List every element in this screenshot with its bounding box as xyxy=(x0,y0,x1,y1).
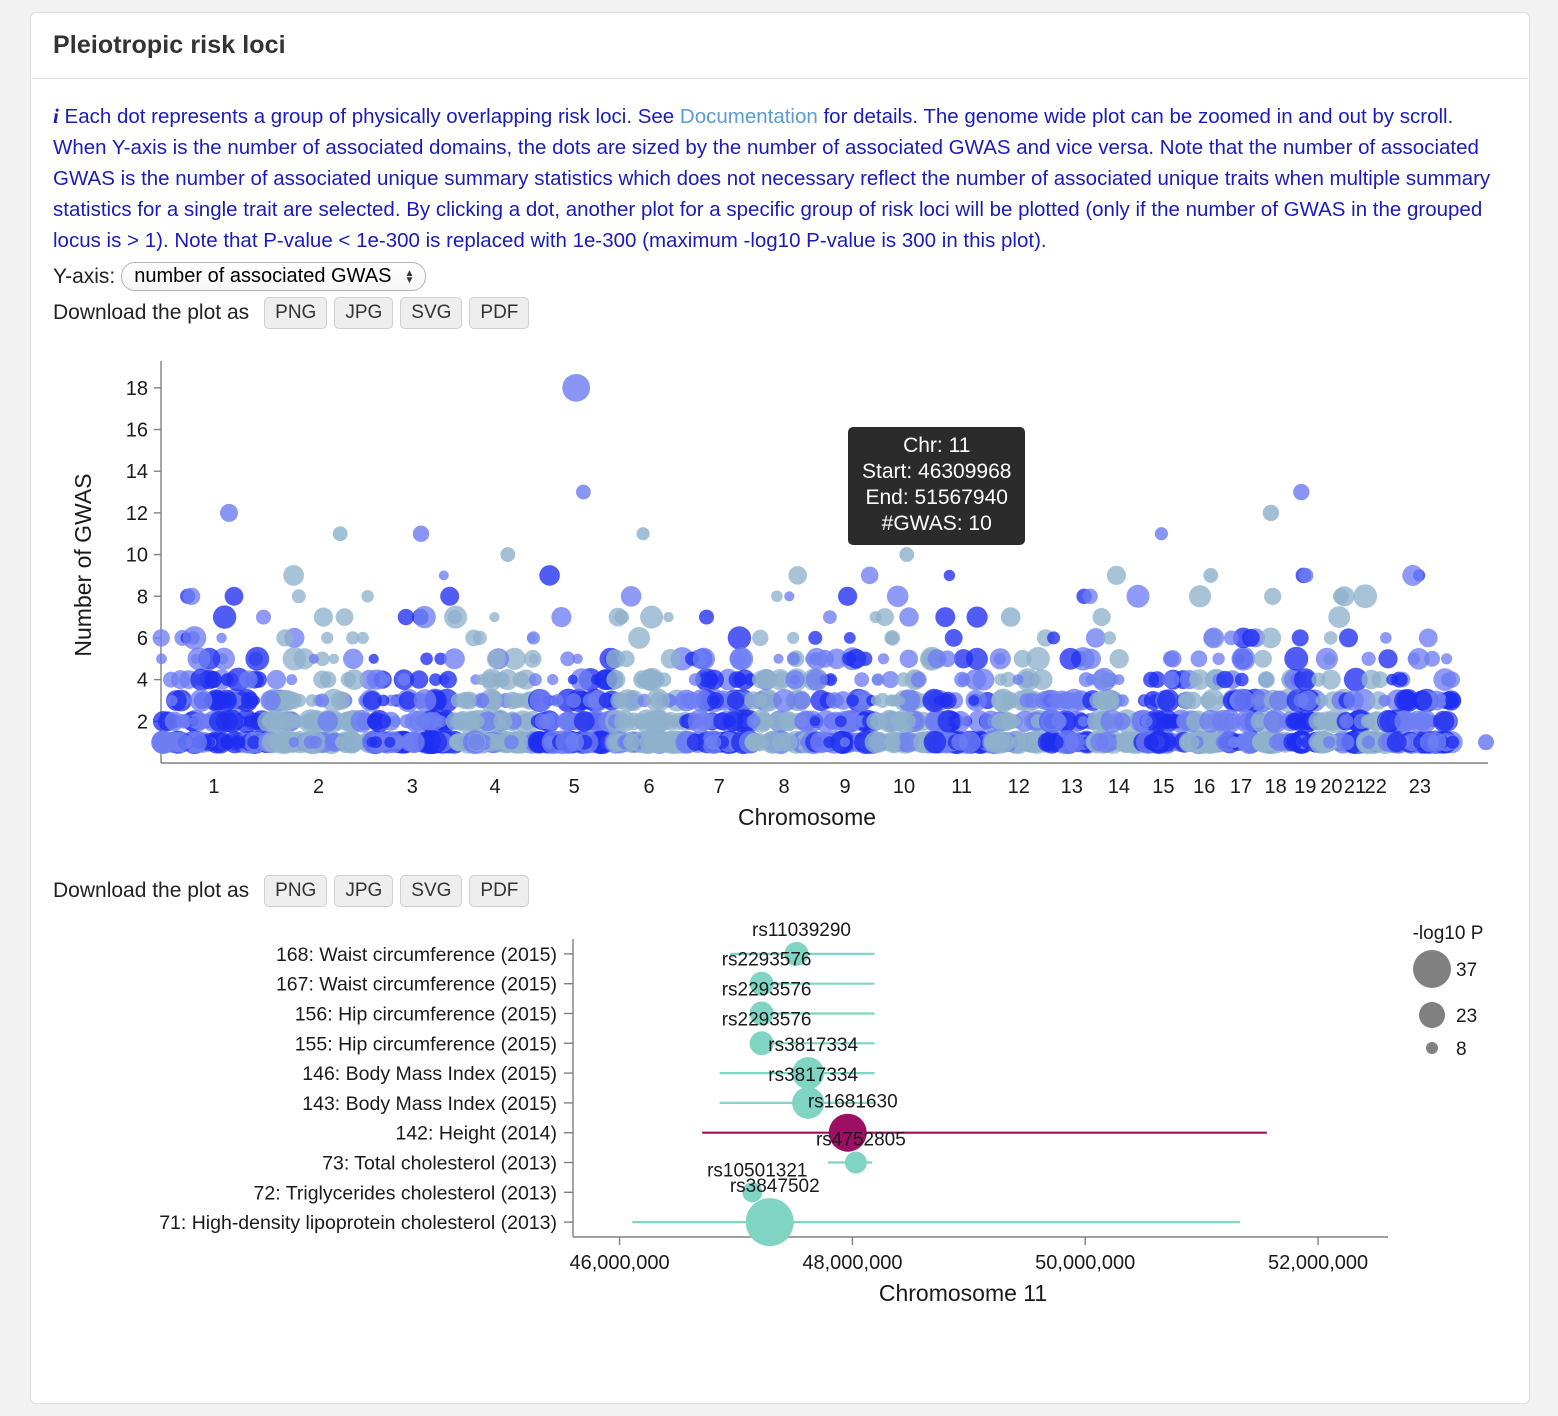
yaxis-select-value: number of associated GWAS xyxy=(134,265,391,288)
svg-text:23: 23 xyxy=(1409,776,1431,798)
svg-text:19: 19 xyxy=(1294,776,1316,798)
yaxis-select[interactable]: number of associated GWAS ▲▼ xyxy=(121,262,426,291)
svg-text:6: 6 xyxy=(137,628,148,650)
description-text: i Each dot represents a group of physica… xyxy=(53,101,1507,256)
svg-text:14: 14 xyxy=(126,461,148,483)
pleiotropic-risk-loci-card: Pleiotropic risk loci i Each dot represe… xyxy=(30,12,1530,1404)
download-svg-button-bottom[interactable]: SVG xyxy=(400,875,462,907)
download-pdf-button-top[interactable]: PDF xyxy=(469,297,529,329)
svg-text:rs2293576: rs2293576 xyxy=(722,950,812,971)
svg-text:15: 15 xyxy=(1152,776,1174,798)
svg-text:10: 10 xyxy=(126,545,148,567)
download-png-button-bottom[interactable]: PNG xyxy=(264,875,327,907)
download-png-button-top[interactable]: PNG xyxy=(264,297,327,329)
svg-text:5: 5 xyxy=(569,776,580,798)
chevron-updown-icon: ▲▼ xyxy=(405,270,415,284)
download-pdf-button-bottom[interactable]: PDF xyxy=(469,875,529,907)
yaxis-control-row: Y-axis: number of associated GWAS ▲▼ xyxy=(53,262,1507,291)
svg-text:167: Waist circumference (2015: 167: Waist circumference (2015) xyxy=(276,974,557,996)
svg-text:Chromosome: Chromosome xyxy=(738,804,876,830)
svg-text:143: Body Mass Index (2015): 143: Body Mass Index (2015) xyxy=(302,1093,557,1115)
yaxis-label: Y-axis: xyxy=(53,265,115,289)
svg-text:12: 12 xyxy=(1008,776,1030,798)
svg-text:12: 12 xyxy=(126,503,148,525)
download-svg-button-top[interactable]: SVG xyxy=(400,297,462,329)
svg-text:22: 22 xyxy=(1365,776,1387,798)
svg-text:146: Body Mass Index (2015): 146: Body Mass Index (2015) xyxy=(302,1063,557,1085)
svg-text:73: Total cholesterol (2013): 73: Total cholesterol (2013) xyxy=(322,1153,557,1175)
download-label-top: Download the plot as xyxy=(53,301,249,325)
svg-text:155: Hip circumference (2015): 155: Hip circumference (2015) xyxy=(295,1033,557,1055)
page-title: Pleiotropic risk loci xyxy=(53,31,286,60)
svg-text:rs2293576: rs2293576 xyxy=(722,980,812,1001)
svg-text:rs3817334: rs3817334 xyxy=(768,1035,858,1056)
svg-text:2: 2 xyxy=(313,776,324,798)
locus-lollipop-plot[interactable]: 46,000,00048,000,00050,000,00052,000,000… xyxy=(53,917,1507,1337)
svg-text:14: 14 xyxy=(1108,776,1130,798)
svg-text:7: 7 xyxy=(714,776,725,798)
svg-text:8: 8 xyxy=(1456,1039,1467,1060)
svg-text:rs3817334: rs3817334 xyxy=(768,1065,858,1086)
svg-text:21: 21 xyxy=(1344,776,1366,798)
genome-wide-scatter-plot[interactable]: 24681012141618Number of GWAS123456789101… xyxy=(53,343,1507,833)
svg-text:rs1681630: rs1681630 xyxy=(808,1092,898,1113)
svg-text:23: 23 xyxy=(1456,1006,1477,1027)
svg-text:17: 17 xyxy=(1230,776,1252,798)
svg-text:18: 18 xyxy=(126,378,148,400)
svg-text:8: 8 xyxy=(778,776,789,798)
svg-text:rs4752805: rs4752805 xyxy=(816,1130,906,1151)
svg-text:50,000,000: 50,000,000 xyxy=(1035,1252,1135,1274)
svg-text:rs2293576: rs2293576 xyxy=(722,1009,812,1030)
download-jpg-button-bottom[interactable]: JPG xyxy=(334,875,393,907)
description-part-1: Each dot represents a group of physicall… xyxy=(65,105,680,128)
svg-text:1: 1 xyxy=(208,776,219,798)
svg-text:48,000,000: 48,000,000 xyxy=(802,1252,902,1274)
scatter-svg[interactable]: 24681012141618Number of GWAS123456789101… xyxy=(53,343,1513,833)
svg-text:168: Waist circumference (2015: 168: Waist circumference (2015) xyxy=(276,944,557,966)
download-row-top: Download the plot as PNG JPG SVG PDF xyxy=(53,297,1507,329)
download-row-bottom: Download the plot as PNG JPG SVG PDF xyxy=(53,875,1507,907)
svg-text:4: 4 xyxy=(489,776,500,798)
svg-text:46,000,000: 46,000,000 xyxy=(570,1252,670,1274)
svg-text:2: 2 xyxy=(137,711,148,733)
scatter-tooltip: Chr: 11 Start: 46309968 End: 51567940 #G… xyxy=(848,427,1025,545)
svg-text:71: High-density lipoprotein c: 71: High-density lipoprotein cholesterol… xyxy=(159,1212,557,1234)
svg-text:37: 37 xyxy=(1456,960,1477,981)
svg-text:Number of GWAS: Number of GWAS xyxy=(70,473,96,656)
svg-text:156: Hip circumference (2015): 156: Hip circumference (2015) xyxy=(295,1004,557,1026)
card-body: i Each dot represents a group of physica… xyxy=(31,79,1529,1337)
svg-text:52,000,000: 52,000,000 xyxy=(1268,1252,1368,1274)
svg-text:9: 9 xyxy=(840,776,851,798)
svg-text:Chromosome 11: Chromosome 11 xyxy=(879,1280,1047,1306)
info-icon: i xyxy=(53,104,59,128)
svg-text:4: 4 xyxy=(137,670,148,692)
download-label-bottom: Download the plot as xyxy=(53,879,249,903)
svg-text:rs3847502: rs3847502 xyxy=(730,1176,820,1197)
svg-text:16: 16 xyxy=(1193,776,1215,798)
card-header: Pleiotropic risk loci xyxy=(31,13,1529,79)
documentation-link[interactable]: Documentation xyxy=(680,105,818,128)
svg-text:3: 3 xyxy=(407,776,418,798)
svg-text:20: 20 xyxy=(1320,776,1342,798)
svg-text:11: 11 xyxy=(951,776,972,798)
svg-text:-log10 P: -log10 P xyxy=(1413,923,1484,944)
svg-text:10: 10 xyxy=(893,776,915,798)
svg-text:72: Triglycerides cholesterol: 72: Triglycerides cholesterol (2013) xyxy=(254,1182,557,1204)
svg-text:13: 13 xyxy=(1061,776,1083,798)
svg-text:8: 8 xyxy=(137,586,148,608)
svg-text:142: Height (2014): 142: Height (2014) xyxy=(395,1123,557,1145)
svg-text:16: 16 xyxy=(126,420,148,442)
svg-text:18: 18 xyxy=(1265,776,1287,798)
svg-text:rs11039290: rs11039290 xyxy=(752,920,851,941)
lollipop-svg[interactable]: 46,000,00048,000,00050,000,00052,000,000… xyxy=(53,917,1513,1337)
download-jpg-button-top[interactable]: JPG xyxy=(334,297,393,329)
svg-text:6: 6 xyxy=(643,776,654,798)
